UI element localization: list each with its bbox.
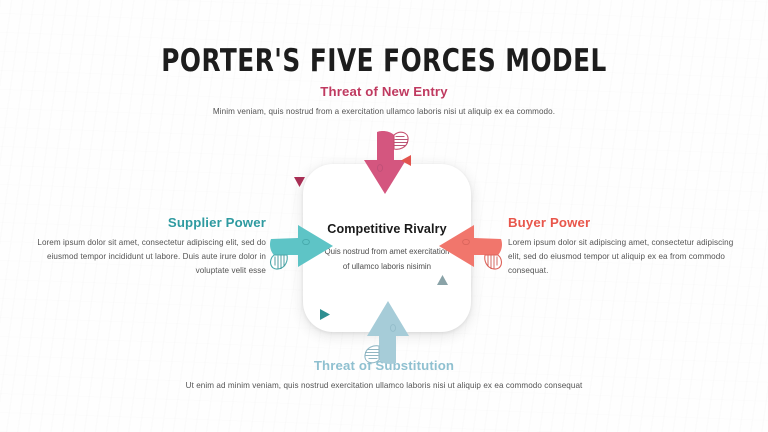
page-title: PORTER'S FIVE FORCES MODEL [77,43,691,79]
force-block-threat-of-new-entry: Threat of New Entry Minim veniam, quis n… [184,84,584,119]
arrow-up-icon-threat-of-substitution [351,294,423,366]
arrow-down-icon-threat-of-new-entry [351,130,423,200]
marker-triangle-left-icon [401,155,411,166]
force-heading-buyer-power: Buyer Power [508,215,738,230]
five-forces-diagram: Competitive Rivalry Quis nostrud from am… [274,135,500,361]
center-heading: Competitive Rivalry [327,222,446,236]
marker-triangle-up-icon [437,275,448,285]
arrow-right-icon-supplier-power [268,212,338,284]
marker-triangle-down-icon [294,177,305,187]
force-heading-supplier-power: Supplier Power [34,215,266,230]
force-body-supplier-power: Lorem ipsum dolor sit amet, consectetur … [34,236,266,278]
porters-five-forces-slide: PORTER'S FIVE FORCES MODEL Threat of New… [0,0,768,432]
force-block-supplier-power: Supplier Power Lorem ipsum dolor sit ame… [34,215,266,278]
force-body-threat-of-substitution: Ut enim ad minim veniam, quis nostrud ex… [184,379,584,393]
force-heading-threat-of-new-entry: Threat of New Entry [184,84,584,99]
force-block-buyer-power: Buyer Power Lorem ipsum dolor sit adipis… [508,215,738,278]
arrow-left-icon-buyer-power [432,212,504,284]
marker-triangle-right-icon [320,309,330,320]
force-body-threat-of-new-entry: Minim veniam, quis nostrud from a exerci… [184,105,584,119]
force-body-buyer-power: Lorem ipsum dolor sit adipiscing amet, c… [508,236,738,278]
